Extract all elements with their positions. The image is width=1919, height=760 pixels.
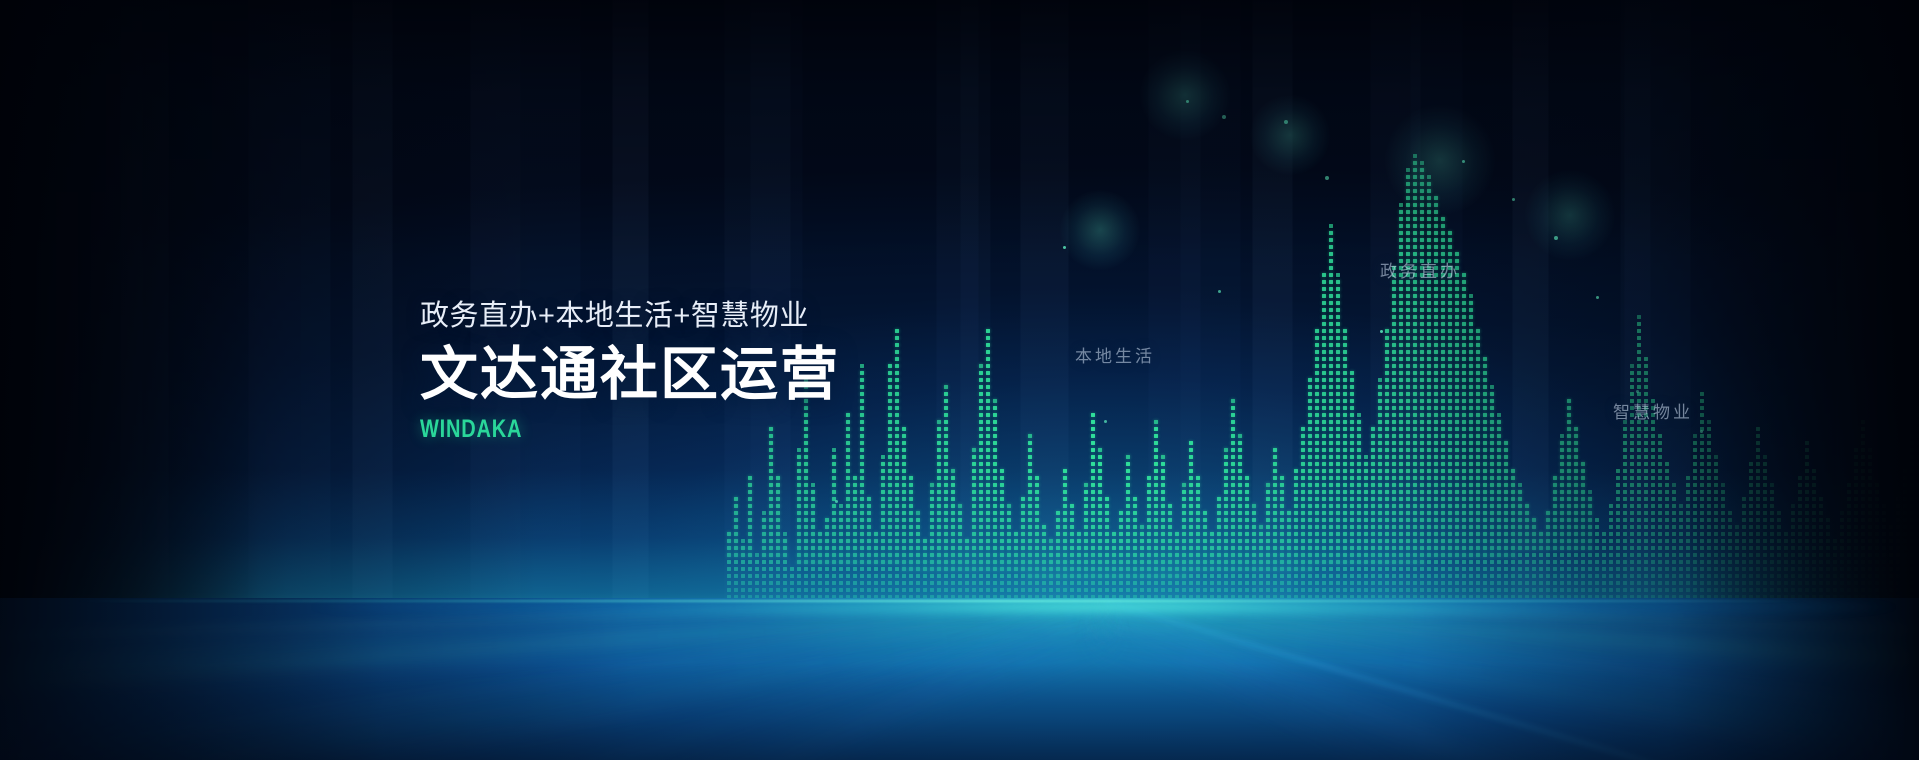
perspective-ground (0, 598, 1919, 760)
city-label-3: 智慧物业 (1613, 398, 1693, 423)
horizon-line (0, 600, 1919, 602)
brand-wordmark: WINDAKA (420, 415, 756, 444)
hero-headline: 文达通社区运营 (420, 344, 840, 407)
hero-subtitle: 政务直办+本地生活+智慧物业 (420, 292, 840, 334)
ground-bottom-fade (0, 598, 1919, 760)
hero-copy: 政务直办+本地生活+智慧物业 文达通社区运营 WINDAKA (420, 292, 840, 444)
city-label-1: 本地生活 (1075, 342, 1155, 367)
hero-banner: 本地生活政务直办智慧物业 政务直办+本地生活+智慧物业 文达通社区运营 WIND… (0, 0, 1919, 760)
city-label-2: 政务直办 (1380, 257, 1460, 282)
